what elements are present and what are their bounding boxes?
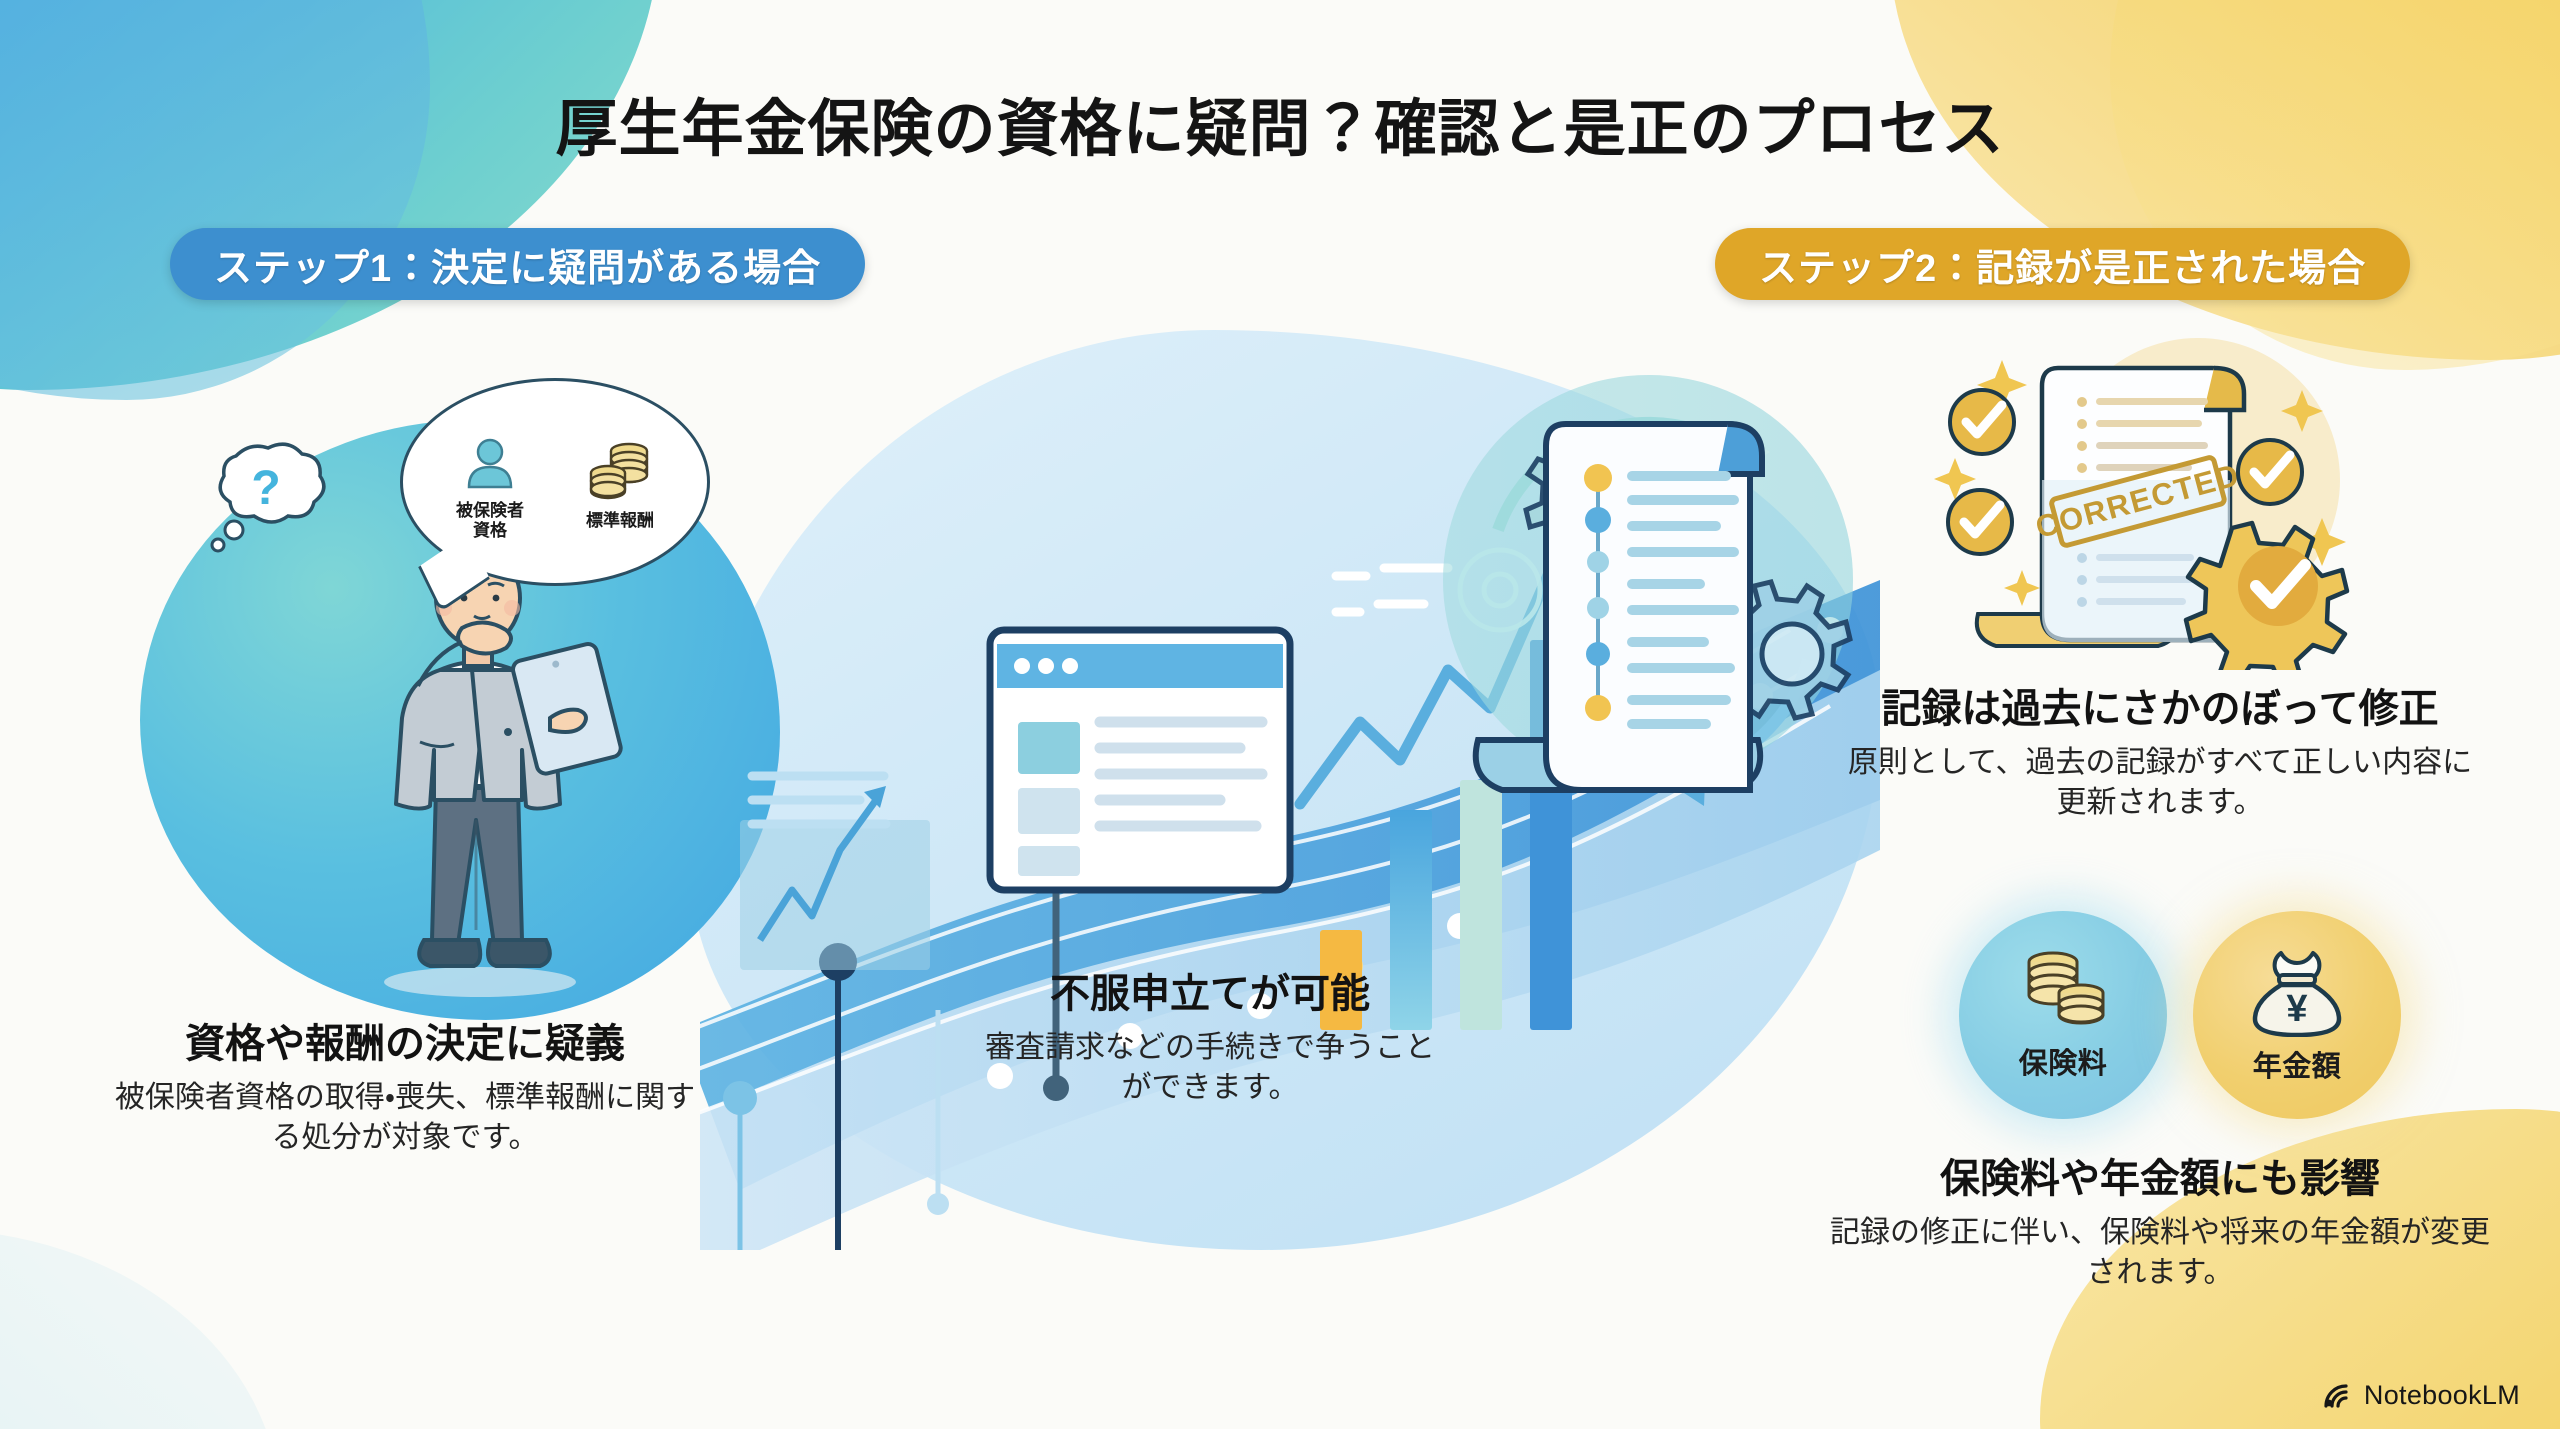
- step-badge-1: ステップ1：決定に疑問がある場合: [170, 228, 865, 300]
- caption-right-top-body: 原則として、過去の記録がすべて正しい内容に更新されます。: [1840, 743, 2480, 823]
- caption-left: 資格や報酬の決定に疑義 被保険者資格の取得・喪失、標準報酬に関する処分が対象です…: [100, 1020, 710, 1158]
- speech-bubble: 被保険者 資格: [400, 378, 710, 586]
- caption-right-bottom-heading: 保険料や年金額にも影響: [1830, 1155, 2490, 1205]
- speech-item-standard-remuneration: 標準報酬: [565, 439, 675, 531]
- caption-right-top-heading: 記録は過去にさかのぼって修正: [1840, 685, 2480, 735]
- infographic-canvas: 厚生年金保険の資格に疑問？確認と是正のプロセス ステップ1：決定に疑問がある場合…: [0, 0, 2560, 1429]
- thought-bubble-icon: ?: [200, 442, 332, 554]
- caption-center: 不服申立てが可能 審査請求などの手続きで争うことができます。: [980, 970, 1440, 1108]
- blob-bottom-left-icon: [0, 1229, 280, 1429]
- person-icon: [461, 435, 519, 493]
- caption-right-top: 記録は過去にさかのぼって修正 原則として、過去の記録がすべて正しい内容に更新され…: [1840, 685, 2480, 823]
- speech-item-1-label-line2: 資格: [473, 521, 507, 540]
- money-bag-icon: ¥: [2247, 945, 2347, 1037]
- blob-top-right-icon: [1890, 0, 2560, 360]
- step-badge-2-label: ステップ2：記録が是正された場合: [1759, 237, 2366, 292]
- impact-badges: 保険料 ¥ 年金額: [1900, 900, 2460, 1130]
- step-badge-2: ステップ2：記録が是正された場合: [1715, 228, 2410, 300]
- blob-top-right-accent-icon: [2110, 0, 2560, 370]
- coins-icon: [585, 441, 655, 503]
- caption-left-body: 被保険者資格の取得・喪失、標準報酬に関する処分が対象です。: [100, 1078, 710, 1158]
- blob-top-left-accent-icon: [0, 0, 430, 400]
- badge-pension-amount-label: 年金額: [2253, 1043, 2342, 1085]
- blob-top-left-icon: [0, 0, 660, 390]
- mini-chart-card-icon: [740, 776, 930, 970]
- caption-left-heading: 資格や報酬の決定に疑義: [100, 1020, 710, 1070]
- caption-right-bottom: 保険料や年金額にも影響 記録の修正に伴い、保険料や将来の年金額が変更されます。: [1830, 1155, 2490, 1293]
- speech-item-2-label-line1: 標準報酬: [586, 511, 654, 530]
- corrected-document-illustration: CORRECTED: [1930, 330, 2450, 670]
- thought-question-mark: ?: [251, 462, 280, 515]
- thinking-person-illustration: [312, 520, 642, 1000]
- caption-right-bottom-body: 記録の修正に伴い、保険料や将来の年金額が変更されます。: [1830, 1213, 2490, 1293]
- data-flow-illustration: [700, 330, 1880, 1250]
- step-badge-1-label: ステップ1：決定に疑問がある場合: [214, 237, 821, 292]
- caption-center-body: 審査請求などの手続きで争うことができます。: [980, 1028, 1440, 1108]
- speech-item-1-label-line1: 被保険者: [456, 501, 524, 520]
- notebooklm-watermark-label: NotebookLM: [2364, 1380, 2520, 1411]
- speech-item-insured-status: 被保険者 資格: [435, 429, 545, 541]
- coins-icon: [2013, 948, 2113, 1034]
- notebooklm-watermark: NotebookLM: [2322, 1380, 2520, 1411]
- decor-dashes-icon: [1336, 568, 1448, 612]
- badge-insurance-premium: 保険料: [1959, 911, 2167, 1119]
- browser-window-icon: [990, 630, 1290, 890]
- yen-symbol: ¥: [2286, 988, 2307, 1030]
- caption-center-heading: 不服申立てが可能: [980, 970, 1440, 1020]
- badge-insurance-premium-label: 保険料: [2019, 1040, 2108, 1082]
- badge-pension-amount: ¥ 年金額: [2193, 911, 2401, 1119]
- notebooklm-logo-icon: [2322, 1382, 2352, 1410]
- page-title: 厚生年金保険の資格に疑問？確認と是正のプロセス: [0, 78, 2560, 168]
